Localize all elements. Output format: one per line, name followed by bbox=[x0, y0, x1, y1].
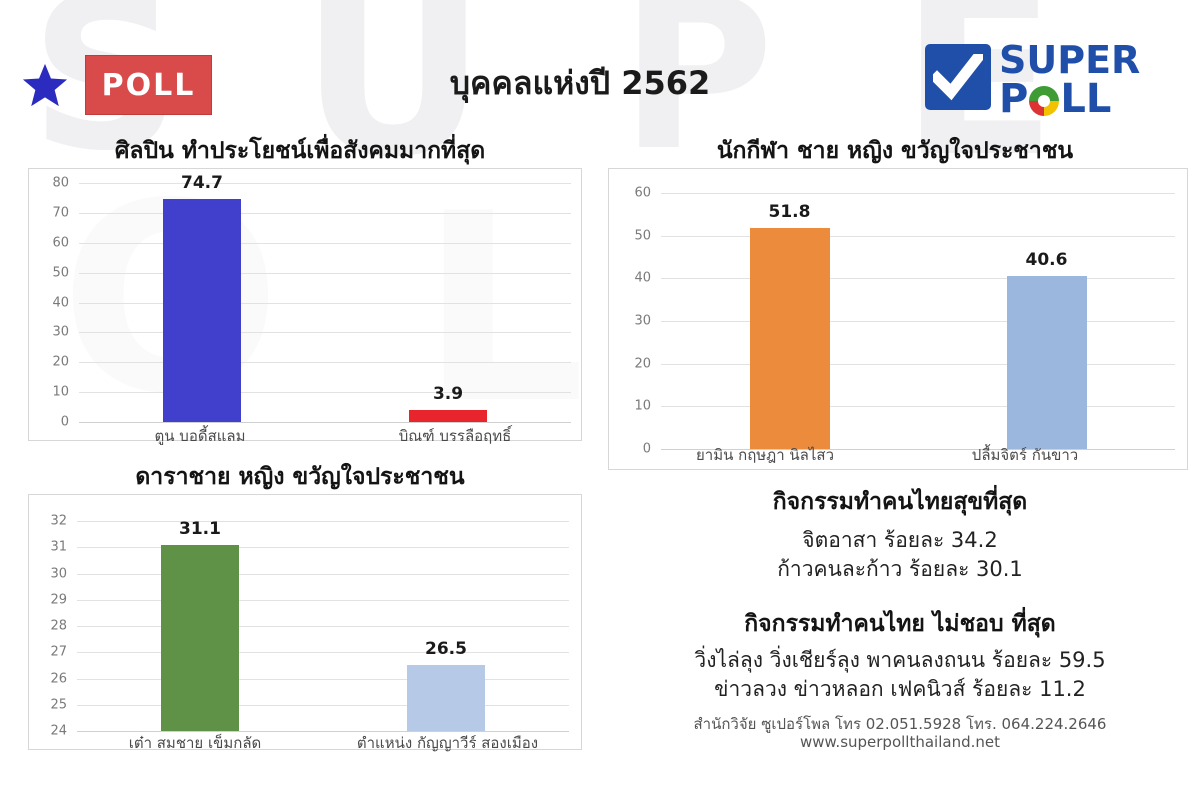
y-axis-tick: 30 bbox=[33, 566, 67, 581]
dislike-activity-heading: กิจกรรมทำคนไทย ไม่ชอบ ที่สุด bbox=[600, 606, 1200, 642]
chart-3-panel: 24252627282930313231.126.5 bbox=[28, 494, 582, 750]
bar bbox=[407, 665, 485, 731]
gridline bbox=[79, 332, 571, 333]
logo-o-circle-icon bbox=[1029, 86, 1059, 116]
y-axis-tick: 20 bbox=[35, 355, 69, 370]
header: POLL บุคคลแห่งปี 2562 SUPER PLL bbox=[0, 0, 1200, 128]
y-axis-tick: 32 bbox=[33, 514, 67, 529]
happy-activity-heading: กิจกรรมทำคนไทยสุขที่สุด bbox=[600, 484, 1200, 520]
gridline bbox=[79, 362, 571, 363]
logo-poll-ll: LL bbox=[1060, 76, 1111, 122]
dislike-activity-line-2: ข่าวลวง ข่าวหลอก เฟคนิวส์ ร้อยละ 11.2 bbox=[600, 673, 1200, 706]
gridline bbox=[79, 273, 571, 274]
gridline bbox=[661, 236, 1175, 237]
y-axis-tick: 70 bbox=[35, 205, 69, 220]
y-axis-tick: 50 bbox=[617, 228, 651, 243]
chart-2-xlabel-1: ปลื้มจิตร์ กันขาว bbox=[900, 443, 1150, 467]
chart-2-title: นักกีฬา ชาย หญิง ขวัญใจประชาชน bbox=[600, 133, 1190, 169]
gridline bbox=[77, 705, 569, 706]
chart-3-xlabel-0: เต๋า สมชาย เข็มกลัด bbox=[75, 731, 315, 755]
chart-1-title: ศิลปิน ทำประโยชน์เพื่อสังคมมากที่สุด bbox=[20, 133, 580, 169]
logo-poll-p: P bbox=[999, 76, 1028, 122]
y-axis-tick: 50 bbox=[35, 265, 69, 280]
bar bbox=[1007, 276, 1087, 449]
chart-3-title: ดาราชาย หญิง ขวัญใจประชาชน bbox=[20, 459, 580, 495]
happy-activity-line-2: ก้าวคนละก้าว ร้อยละ 30.1 bbox=[600, 553, 1200, 586]
gridline bbox=[661, 278, 1175, 279]
y-axis-tick: 31 bbox=[33, 540, 67, 555]
logo-poll-text: PLL bbox=[999, 78, 1111, 120]
poll-badge-label: POLL bbox=[102, 68, 196, 103]
gridline bbox=[661, 406, 1175, 407]
y-axis-tick: 40 bbox=[35, 295, 69, 310]
bar-value-label: 74.7 bbox=[157, 173, 247, 193]
gridline bbox=[661, 193, 1175, 194]
y-axis-tick: 28 bbox=[33, 619, 67, 634]
y-axis-tick: 0 bbox=[35, 415, 69, 430]
bar-value-label: 26.5 bbox=[401, 639, 491, 659]
y-axis-tick: 40 bbox=[617, 271, 651, 286]
y-axis-tick: 60 bbox=[617, 186, 651, 201]
chart-3-plot: 24252627282930313231.126.5 bbox=[29, 495, 581, 749]
chart-1-xlabel-1: บิณฑ์ บรรลือฤทธิ์ bbox=[330, 424, 580, 448]
y-axis-tick: 30 bbox=[35, 325, 69, 340]
logo-super-text: SUPER bbox=[999, 40, 1140, 80]
gridline bbox=[79, 183, 571, 184]
gridline bbox=[79, 303, 571, 304]
bar-value-label: 3.9 bbox=[403, 384, 493, 404]
chart-2-xlabel-0: ยามิน กฤษฎา นิลไสว bbox=[640, 443, 890, 467]
y-axis-tick: 24 bbox=[33, 724, 67, 739]
bar bbox=[409, 410, 487, 422]
y-axis-tick: 60 bbox=[35, 235, 69, 250]
bar-value-label: 51.8 bbox=[745, 202, 835, 222]
y-axis-tick: 80 bbox=[35, 176, 69, 191]
gridline bbox=[661, 364, 1175, 365]
bar bbox=[161, 545, 239, 731]
chart-1-panel: 0102030405060708074.73.9 bbox=[28, 168, 582, 441]
bar bbox=[750, 228, 830, 449]
bar-value-label: 31.1 bbox=[155, 519, 245, 539]
bar-value-label: 40.6 bbox=[1002, 250, 1092, 270]
gridline bbox=[79, 213, 571, 214]
infographic-page: POLL บุคคลแห่งปี 2562 SUPER PLL ศิลปิน ท… bbox=[0, 0, 1200, 799]
chart-2-panel: 010203040506051.840.6 bbox=[608, 168, 1188, 470]
gridline bbox=[79, 243, 571, 244]
y-axis-tick: 20 bbox=[617, 356, 651, 371]
y-axis-tick: 30 bbox=[617, 314, 651, 329]
footer-website: www.superpollthailand.net bbox=[600, 733, 1200, 751]
gridline bbox=[77, 521, 569, 522]
gridline bbox=[79, 422, 571, 423]
y-axis-tick: 27 bbox=[33, 645, 67, 660]
chart-1-xlabel-0: ตูน บอดี้สแลม bbox=[90, 424, 310, 448]
gridline bbox=[77, 652, 569, 653]
superpoll-logo: SUPER PLL bbox=[925, 40, 1160, 122]
y-axis-tick: 10 bbox=[617, 399, 651, 414]
gridline bbox=[77, 574, 569, 575]
gridline bbox=[77, 626, 569, 627]
star-icon bbox=[22, 62, 68, 108]
page-title: บุคคลแห่งปี 2562 bbox=[300, 58, 860, 109]
chart-2-plot: 010203040506051.840.6 bbox=[609, 169, 1187, 469]
y-axis-tick: 10 bbox=[35, 385, 69, 400]
y-axis-tick: 25 bbox=[33, 697, 67, 712]
gridline bbox=[79, 392, 571, 393]
gridline bbox=[77, 679, 569, 680]
y-axis-tick: 26 bbox=[33, 671, 67, 686]
gridline bbox=[77, 547, 569, 548]
bar bbox=[163, 199, 241, 422]
poll-badge: POLL bbox=[85, 55, 212, 115]
chart-1-plot: 0102030405060708074.73.9 bbox=[29, 169, 581, 440]
gridline bbox=[77, 600, 569, 601]
y-axis-tick: 29 bbox=[33, 592, 67, 607]
chart-3-xlabel-1: ตำแหน่ง กัญญาวีร์ สองเมือง bbox=[315, 731, 580, 755]
checkmark-icon bbox=[925, 44, 991, 110]
gridline bbox=[661, 321, 1175, 322]
